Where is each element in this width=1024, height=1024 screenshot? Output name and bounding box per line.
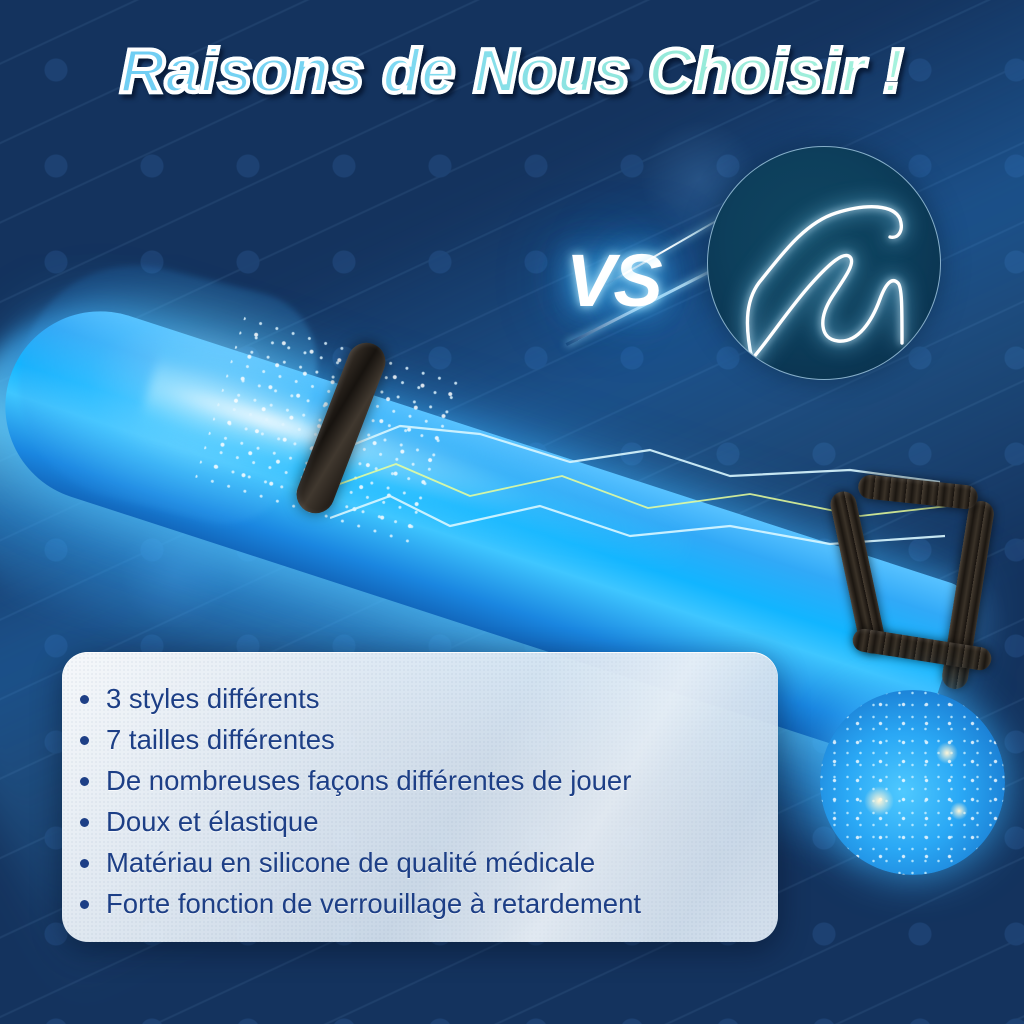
feature-text: Forte fonction de verrouillage à retarde… (106, 888, 641, 919)
bullet-dot-icon (80, 777, 89, 786)
bullet-dot-icon (80, 695, 89, 704)
orb-flare (864, 786, 894, 816)
list-item: Forte fonction de verrouillage à retarde… (106, 883, 778, 924)
features-panel: 3 styles différents 7 tailles différente… (62, 652, 778, 942)
bullet-dot-icon (80, 900, 89, 909)
accessory-orb (820, 690, 1005, 875)
features-list: 3 styles différents 7 tailles différente… (62, 652, 778, 924)
bullet-dot-icon (80, 818, 89, 827)
orb-flare (936, 742, 958, 764)
sparkle-icon (820, 690, 1005, 875)
feature-text: 3 styles différents (106, 683, 320, 714)
list-item: Doux et élastique (106, 801, 778, 842)
bullet-dot-icon (80, 736, 89, 745)
competitor-circle (707, 146, 941, 380)
feature-text: De nombreuses façons différentes de joue… (106, 765, 631, 796)
headline-container: Raisons de Nous Choisir ! (0, 36, 1024, 107)
list-item: 7 tailles différentes (106, 719, 778, 760)
bullet-dot-icon (80, 859, 89, 868)
promo-banner: Raisons de Nous Choisir ! VS (0, 0, 1024, 1024)
feature-text: Matériau en silicone de qualité médicale (106, 847, 595, 878)
list-item: Matériau en silicone de qualité médicale (106, 842, 778, 883)
list-item: 3 styles différents (106, 678, 778, 719)
circle-ring-icon (708, 147, 940, 379)
list-item: De nombreuses façons différentes de joue… (106, 760, 778, 801)
orb-flare (950, 802, 968, 820)
feature-text: Doux et élastique (106, 806, 319, 837)
page-title: Raisons de Nous Choisir ! (120, 36, 904, 107)
feature-text: 7 tailles différentes (106, 724, 335, 755)
